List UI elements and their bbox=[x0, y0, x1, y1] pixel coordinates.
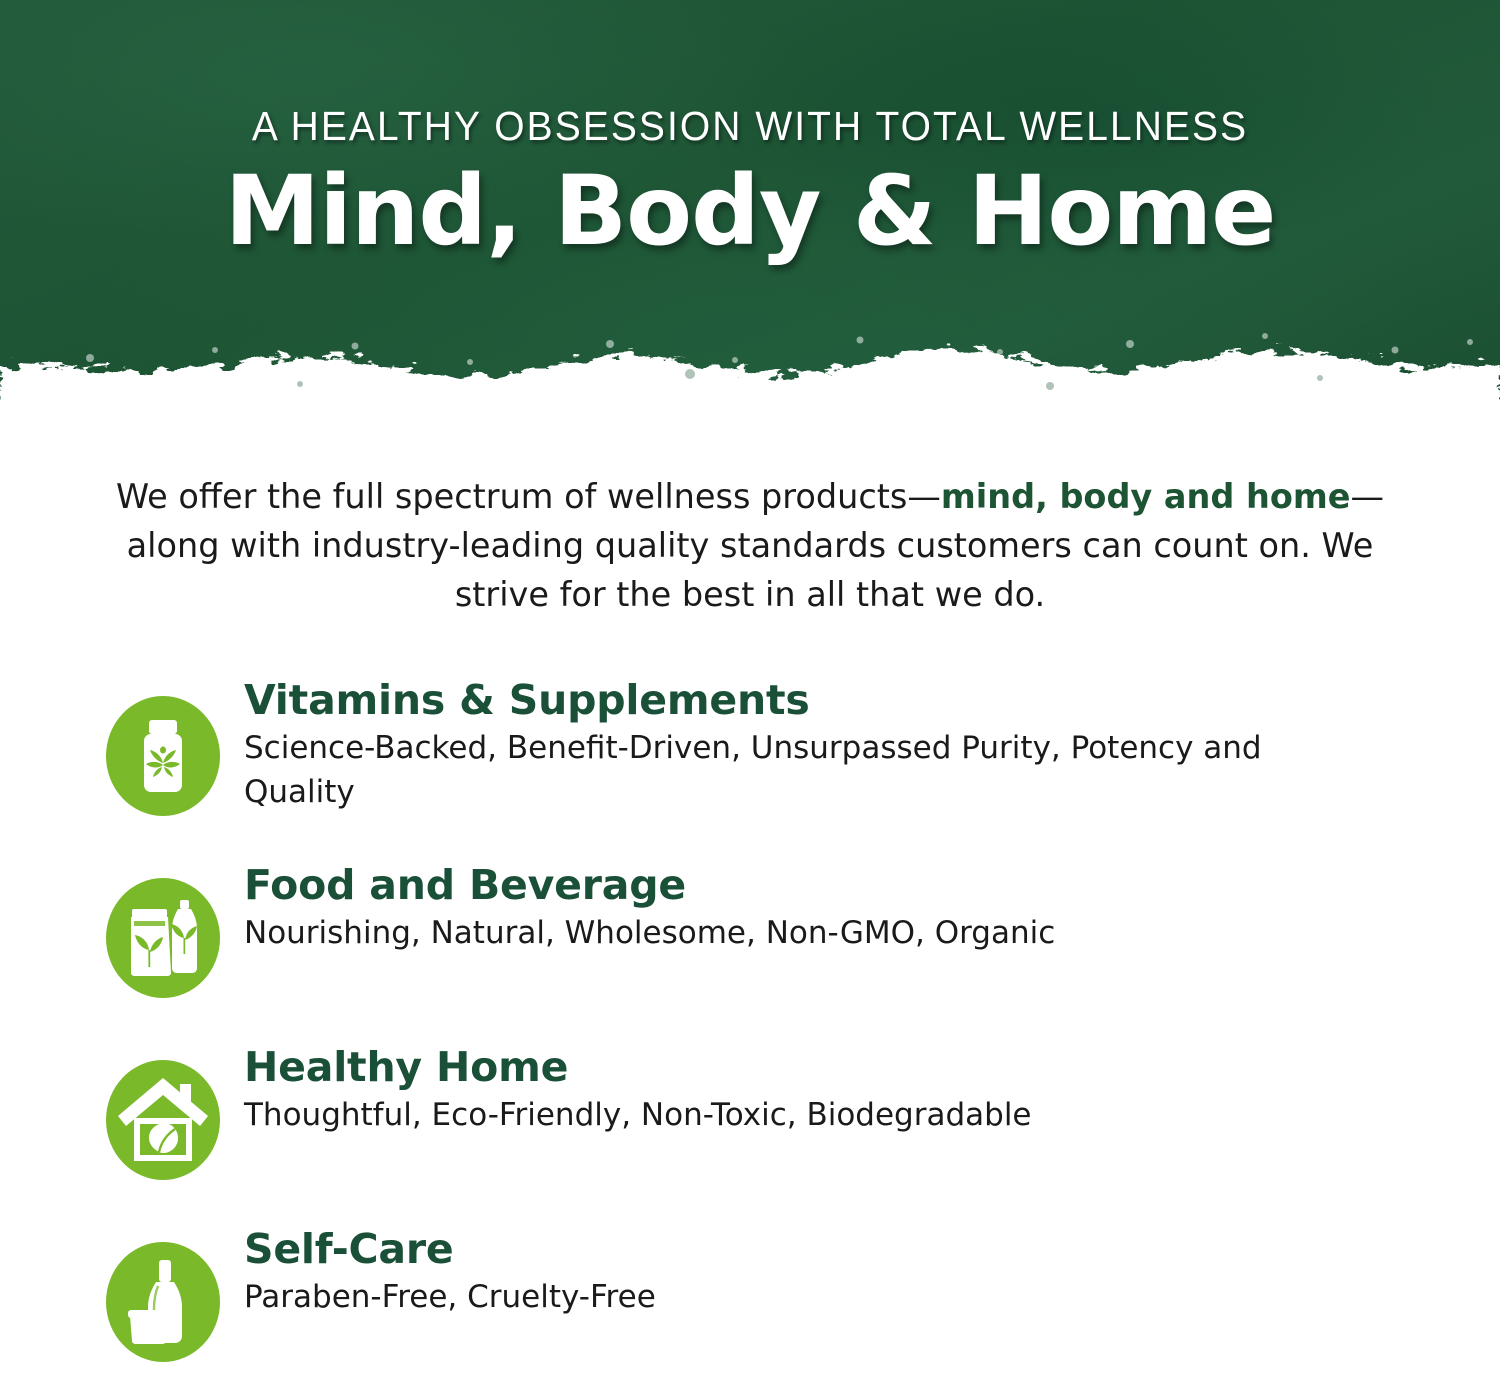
feature-body-self-care: Self-Care Paraben-Free, Cruelty-Free bbox=[244, 1225, 1500, 1319]
feature-description: Nourishing, Natural, Wholesome, Non-GMO,… bbox=[244, 911, 1274, 955]
feature-item-vitamins: Vitamins & Supplements Science-Backed, B… bbox=[0, 676, 1500, 818]
page-title: Mind, Body & Home bbox=[0, 150, 1500, 264]
intro-text-part1: We offer the full spectrum of wellness p… bbox=[116, 477, 941, 516]
feature-title: Self-Care bbox=[244, 1225, 1500, 1273]
intro-paragraph: We offer the full spectrum of wellness p… bbox=[0, 472, 1500, 619]
food-pouch-bottle-icon bbox=[104, 876, 222, 1000]
torn-paper-edge bbox=[0, 300, 1500, 420]
feature-item-healthy-home: Healthy Home Thoughtful, Eco-Friendly, N… bbox=[0, 1043, 1500, 1182]
feature-title: Healthy Home bbox=[244, 1043, 1500, 1091]
feature-list: Vitamins & Supplements Science-Backed, B… bbox=[0, 676, 1500, 1364]
feature-body-healthy-home: Healthy Home Thoughtful, Eco-Friendly, N… bbox=[244, 1043, 1500, 1137]
feature-description: Paraben-Free, Cruelty-Free bbox=[244, 1275, 1274, 1319]
feature-description: Thoughtful, Eco-Friendly, Non-Toxic, Bio… bbox=[244, 1093, 1274, 1137]
feature-title: Food and Beverage bbox=[244, 861, 1500, 909]
feature-body-food-beverage: Food and Beverage Nourishing, Natural, W… bbox=[244, 861, 1500, 955]
supplement-bottle-icon bbox=[104, 694, 222, 818]
feature-item-food-beverage: Food and Beverage Nourishing, Natural, W… bbox=[0, 861, 1500, 1000]
feature-body-vitamins: Vitamins & Supplements Science-Backed, B… bbox=[244, 676, 1500, 814]
lotion-bottle-icon bbox=[104, 1240, 222, 1364]
hero-eyebrow: A HEALTHY OBSESSION WITH TOTAL WELLNESS bbox=[38, 0, 1463, 150]
feature-description: Science-Backed, Benefit-Driven, Unsurpas… bbox=[244, 726, 1274, 814]
feature-title: Vitamins & Supplements bbox=[244, 676, 1500, 724]
feature-item-self-care: Self-Care Paraben-Free, Cruelty-Free bbox=[0, 1225, 1500, 1364]
hero-text-block: A HEALTHY OBSESSION WITH TOTAL WELLNESS … bbox=[0, 0, 1500, 264]
intro-highlight: mind, body and home bbox=[941, 477, 1351, 516]
hero-banner: A HEALTHY OBSESSION WITH TOTAL WELLNESS … bbox=[0, 0, 1500, 420]
house-leaf-icon bbox=[104, 1058, 222, 1182]
